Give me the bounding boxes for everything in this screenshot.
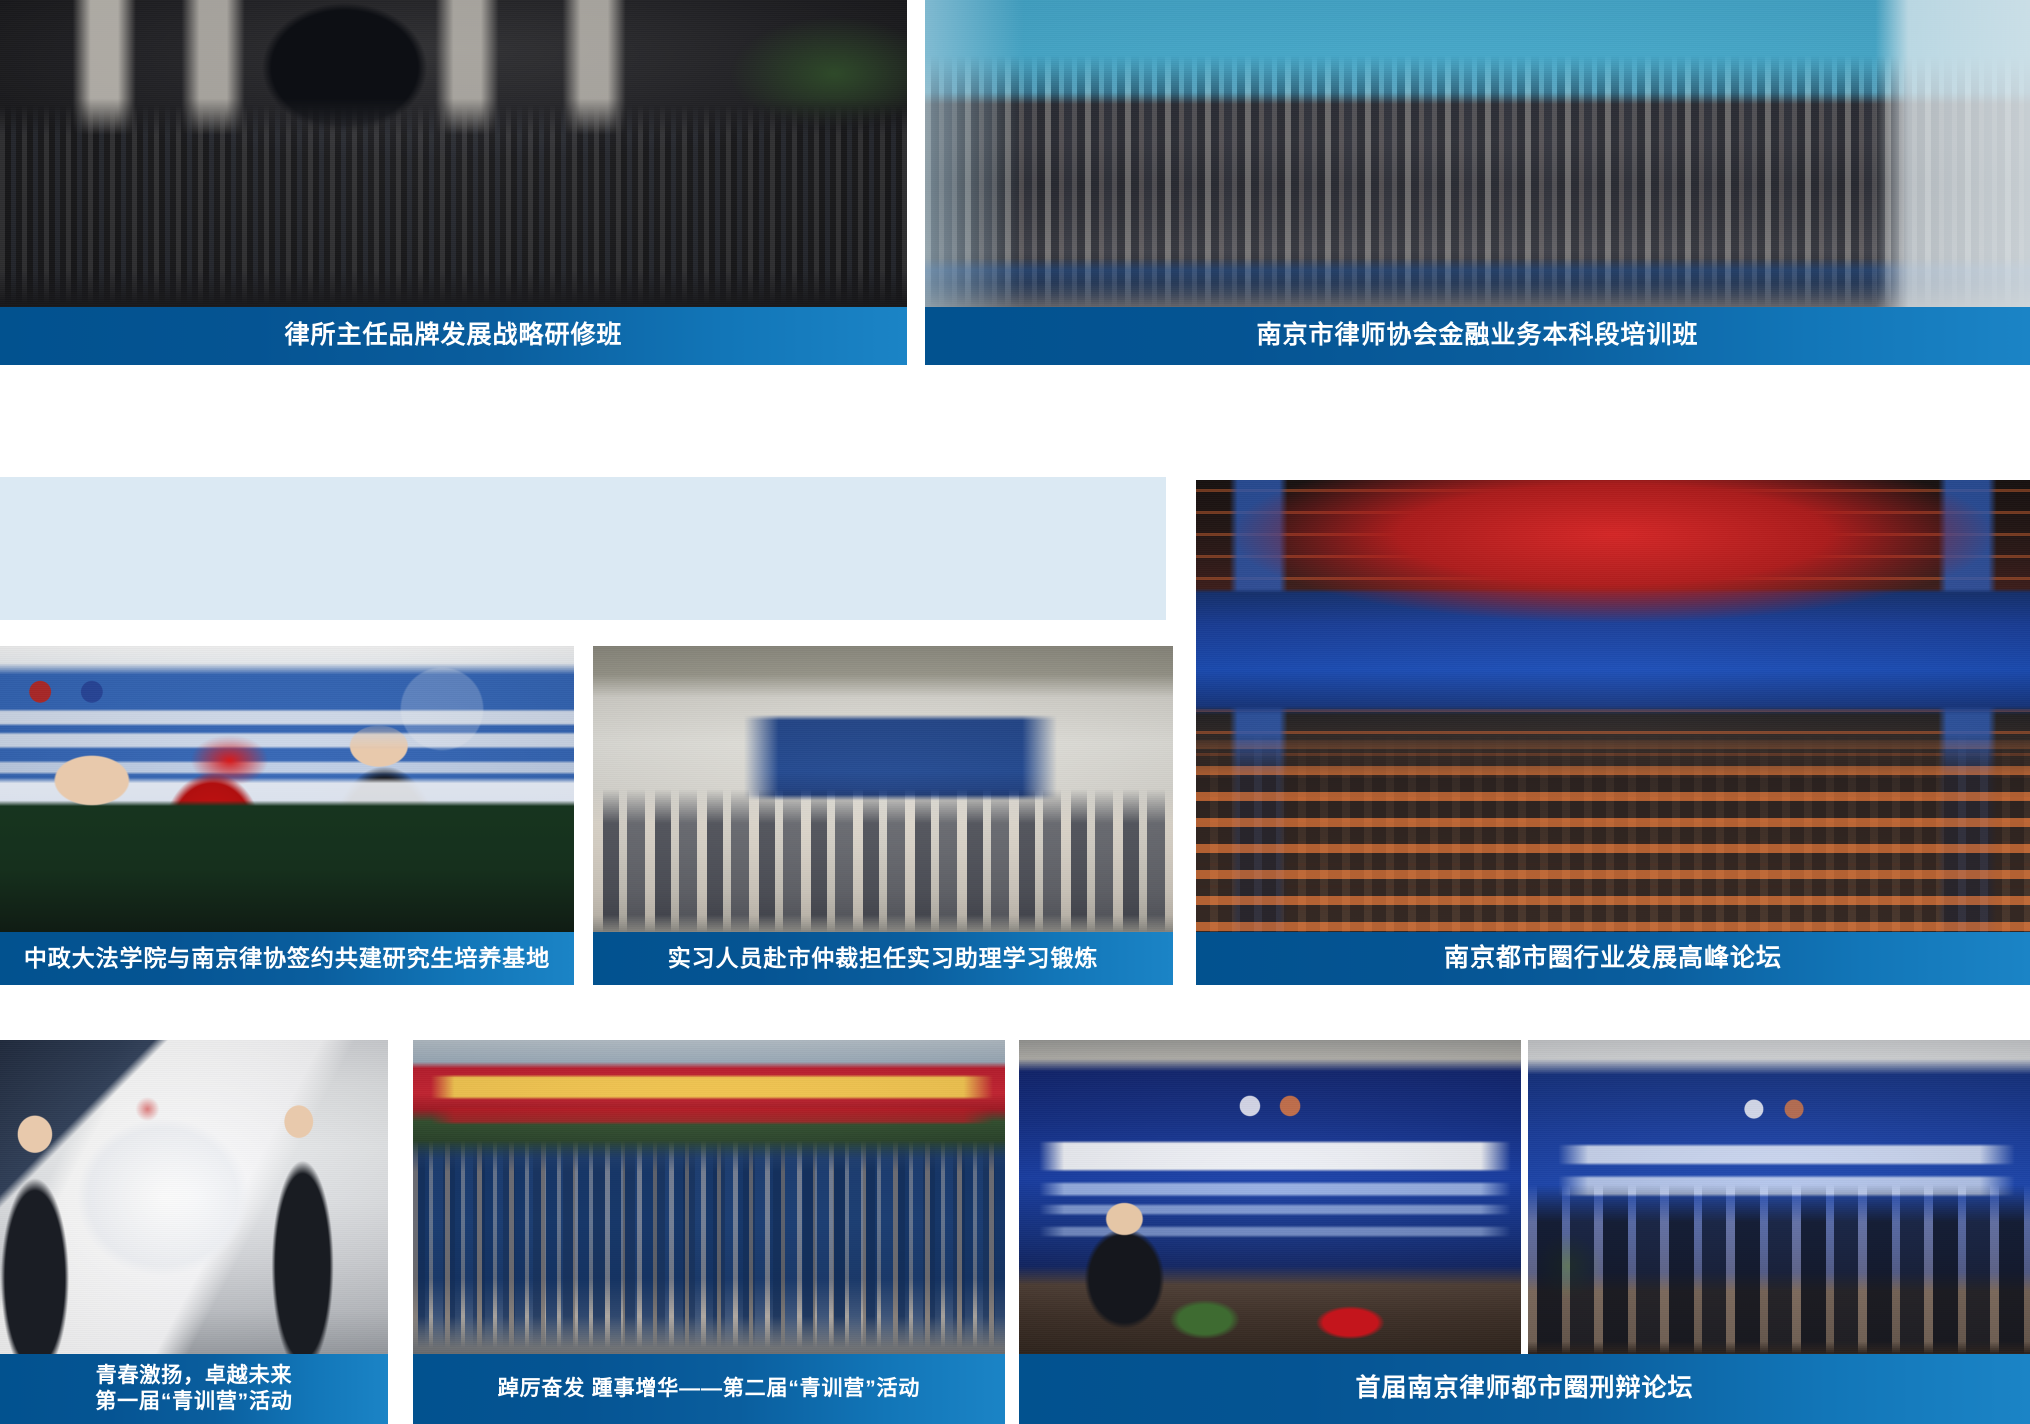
photo-image-flag-handover — [0, 1040, 388, 1354]
photo-grain-overlay — [413, 1040, 1005, 1354]
photo-caption-shared-bottom-right-text: 首届南京律师都市圈刑辩论坛 — [1355, 1373, 1693, 1405]
photo-image-auditorium-forum — [1196, 480, 2030, 932]
photo-image-group-bleachers-teal — [925, 0, 2030, 307]
photo-card-7[interactable]: 踔厉奋发 踵事增华——第二届“青训营”活动 — [413, 1040, 1005, 1424]
photo-caption-4-text: 实习人员赴市仲裁担任实习助理学习锻炼 — [668, 944, 1099, 973]
photo-caption-5-text: 南京都市圈行业发展高峰论坛 — [1444, 943, 1782, 975]
photo-caption-shared-bottom-right: 首届南京律师都市圈刑辩论坛 — [1019, 1354, 2030, 1424]
photo-grain-overlay — [1528, 1040, 2030, 1354]
photo-caption-5: 南京都市圈行业发展高峰论坛 — [1196, 932, 2030, 985]
photo-grain-overlay — [1196, 480, 2030, 932]
photo-caption-6-text: 青春激扬，卓越未来 第一届“青训营”活动 — [95, 1363, 292, 1416]
photo-card-8[interactable] — [1019, 1040, 1521, 1354]
photo-wall-board: 律所主任品牌发展战略研修班 南京市律师协会金融业务本科段培训班 中政大法学院与南… — [0, 0, 2030, 1424]
photo-card-4[interactable]: 实习人员赴市仲裁担任实习助理学习锻炼 — [593, 646, 1173, 985]
photo-caption-3-text: 中政大法学院与南京律协签约共建研究生培养基地 — [24, 944, 550, 973]
photo-grain-overlay — [593, 646, 1173, 932]
photo-card-3[interactable]: 中政大法学院与南京律协签约共建研究生培养基地 — [0, 646, 574, 985]
photo-grain-overlay — [925, 0, 2030, 307]
photo-grain-overlay — [0, 1040, 388, 1354]
photo-grain-overlay — [0, 0, 907, 307]
photo-caption-6: 青春激扬，卓越未来 第一届“青训营”活动 — [0, 1354, 388, 1424]
photo-card-6[interactable]: 青春激扬，卓越未来 第一届“青训营”活动 — [0, 1040, 388, 1424]
photo-image-outdoor-group-steps — [0, 0, 907, 307]
photo-grain-overlay — [1019, 1040, 1521, 1354]
photo-image-plaque-unveiling — [0, 646, 574, 932]
photo-image-youth-camp-group — [413, 1040, 1005, 1354]
photo-caption-1-text: 律所主任品牌发展战略研修班 — [284, 320, 622, 352]
photo-caption-7-text: 踔厉奋发 踵事增华——第二届“青训营”活动 — [498, 1376, 920, 1402]
photo-image-indoor-group-projector — [593, 646, 1173, 932]
photo-caption-4: 实习人员赴市仲裁担任实习助理学习锻炼 — [593, 932, 1173, 985]
photo-caption-2-text: 南京市律师协会金融业务本科段培训班 — [1256, 320, 1698, 352]
empty-filler-panel — [0, 477, 1166, 620]
photo-card-1[interactable]: 律所主任品牌发展战略研修班 — [0, 0, 907, 365]
photo-card-5[interactable]: 南京都市圈行业发展高峰论坛 — [1196, 480, 2030, 985]
photo-caption-7: 踔厉奋发 踵事增华——第二届“青训营”活动 — [413, 1354, 1005, 1424]
photo-caption-3: 中政大法学院与南京律协签约共建研究生培养基地 — [0, 932, 574, 985]
photo-card-9[interactable] — [1528, 1040, 2030, 1354]
photo-card-2[interactable]: 南京市律师协会金融业务本科段培训班 — [925, 0, 2030, 365]
photo-grain-overlay — [0, 646, 574, 932]
photo-image-podium-speaker — [1019, 1040, 1521, 1354]
photo-caption-2: 南京市律师协会金融业务本科段培训班 — [925, 307, 2030, 365]
photo-image-group-launch-blue-backdrop — [1528, 1040, 2030, 1354]
photo-caption-1: 律所主任品牌发展战略研修班 — [0, 307, 907, 365]
